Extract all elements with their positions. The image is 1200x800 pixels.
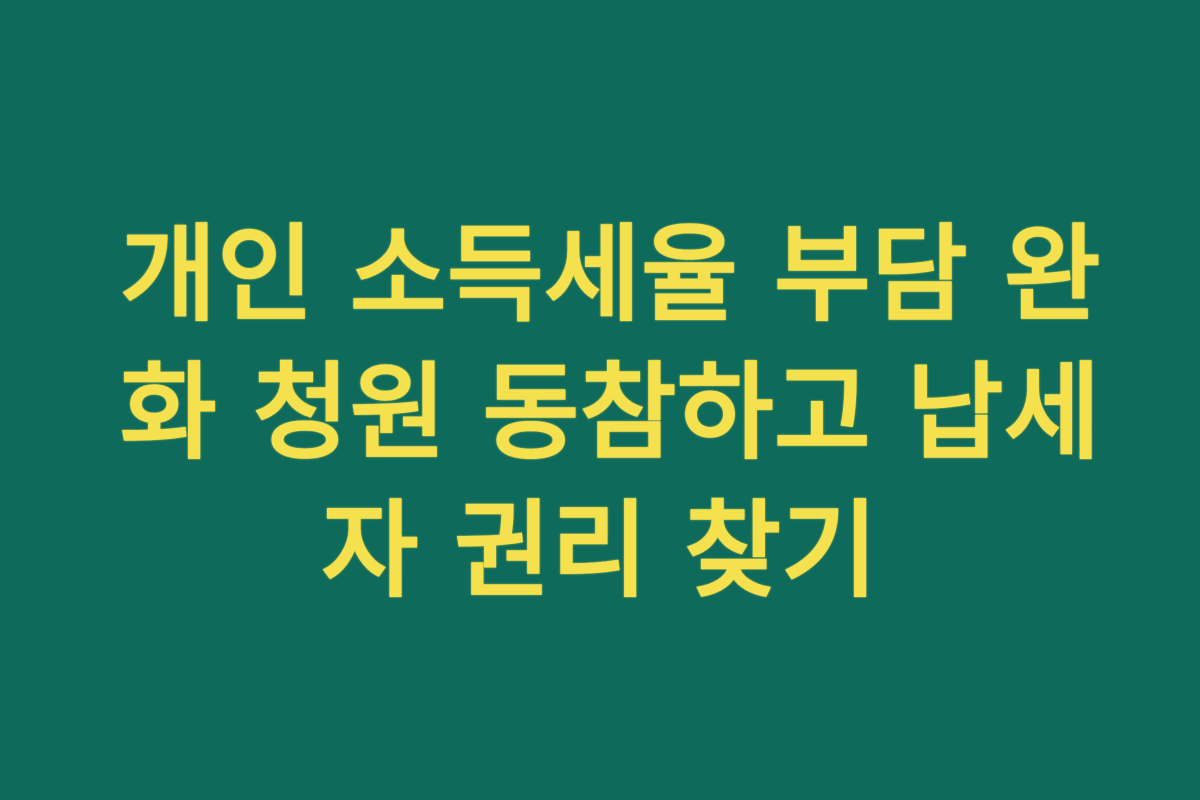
- headline-block: 개인 소득세율 부담 완 화 청원 동참하고 납세 자 권리 찾기: [120, 207, 1080, 621]
- headline-line-1: 개인 소득세율 부담 완: [120, 207, 1080, 345]
- headline-line-3: 자 권리 찾기: [120, 483, 1080, 621]
- thumbnail-card: 개인 소득세율 부담 완 화 청원 동참하고 납세 자 권리 찾기: [0, 0, 1200, 800]
- headline-line-2: 화 청원 동참하고 납세: [120, 345, 1080, 483]
